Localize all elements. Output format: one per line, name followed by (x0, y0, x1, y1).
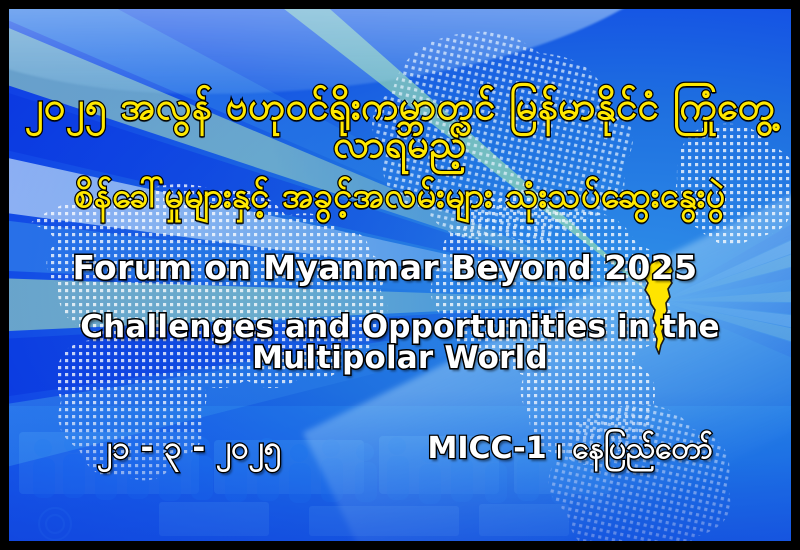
banner-footer: ၂၁ - ၃ - ၂၀၂၅ MICC-1 ၊ နေပြည်တော် (9, 433, 791, 464)
english-title-line-2: Challenges and Opportunities in the Mult… (9, 312, 791, 374)
burmese-headline-line-1: ၂၀၂၅ အလွန် ဗဟုဝင်ရိုးကမ္ဘာတွင် မြန်မာနို… (9, 87, 791, 163)
event-date: ၂၁ - ၃ - ၂၀၂၅ (97, 433, 281, 464)
event-banner: ၂၀၂၅ အလွန် ဗဟုဝင်ရိုးကမ္ဘာတွင် မြန်မာနို… (0, 0, 800, 550)
event-venue: MICC-1 ၊ နေပြည်တော် (428, 434, 714, 464)
english-title-line-1: Forum on Myanmar Beyond 2025 (0, 251, 800, 284)
burmese-headline-line-2: စိန်ခေါ်မှုများနှင့် အခွင့်အလမ်းများ သုံ… (9, 179, 791, 213)
